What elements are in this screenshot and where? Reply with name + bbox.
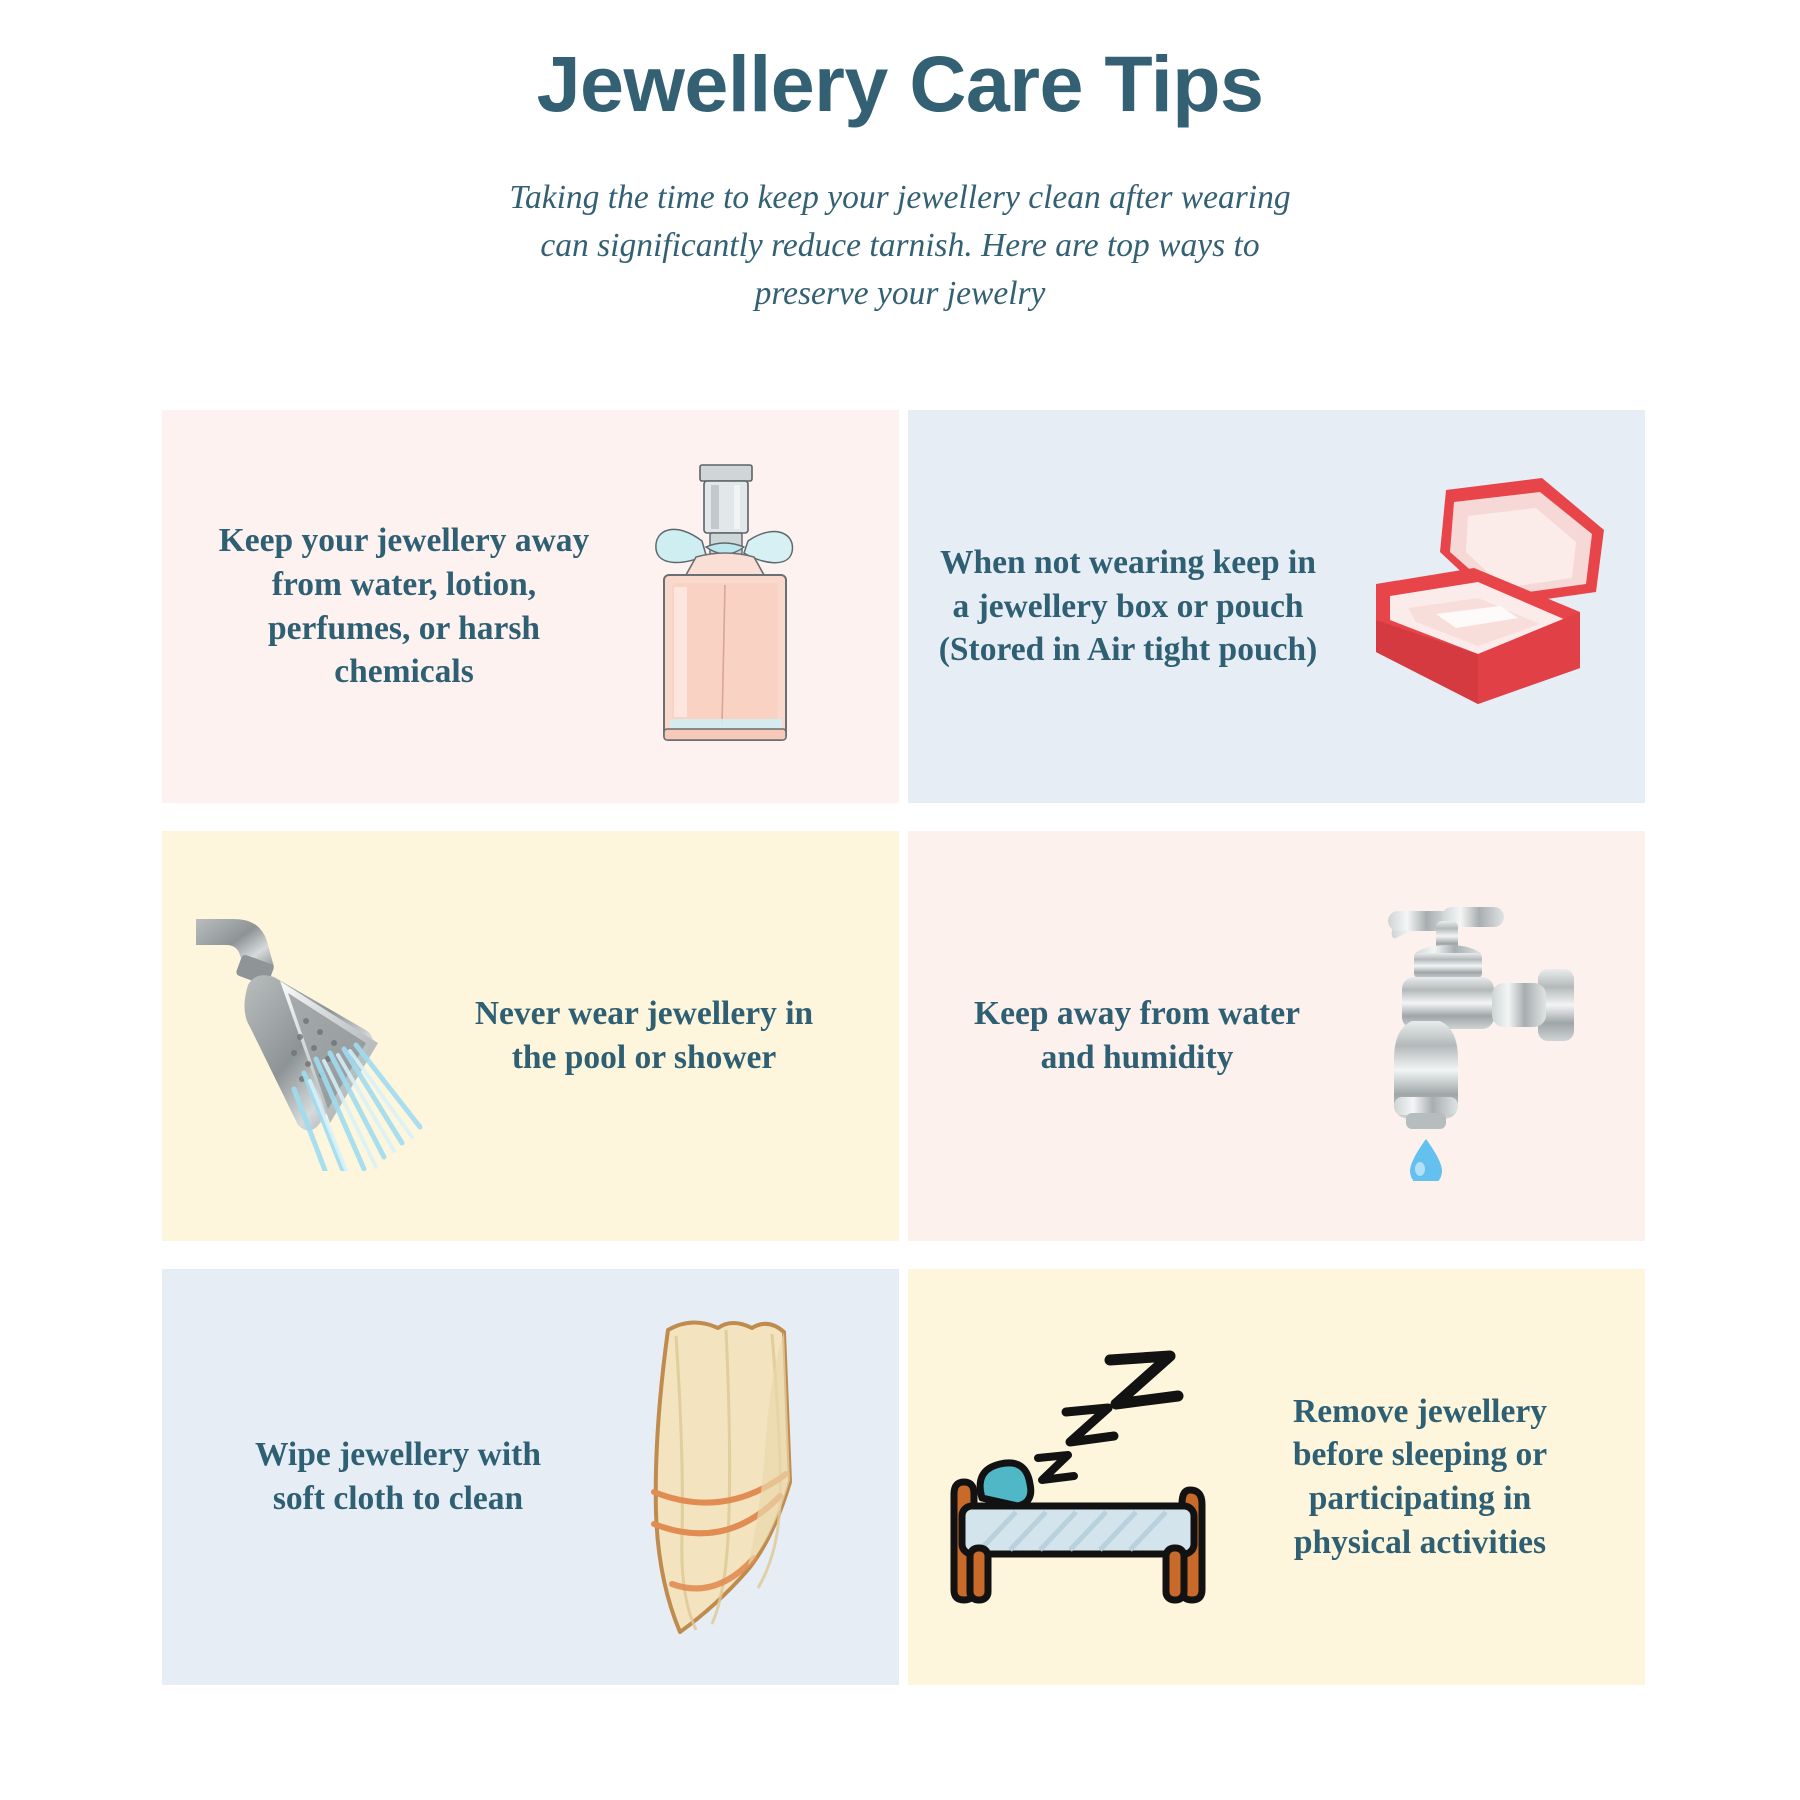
ring-box-icon <box>1328 472 1628 742</box>
shower-head-icon <box>188 901 438 1171</box>
tip-card-shower-label: Never wear jewellery in the pool or show… <box>474 992 814 1079</box>
cloth-icon <box>596 1312 846 1642</box>
infographic-page: Jewellery Care Tips Taking the time to k… <box>0 0 1800 1800</box>
tip-card-chemicals-label: Keep your jewellery away from water, lot… <box>204 519 604 693</box>
tip-card-wipe: Wipe jewellery with soft cloth to clean <box>162 1269 899 1685</box>
tip-card-sleep: Remove jewellery before sleeping or part… <box>908 1269 1645 1685</box>
tip-card-sleep-label: Remove jewellery before sleeping or part… <box>1260 1390 1580 1564</box>
faucet-icon <box>1342 891 1602 1181</box>
perfume-bottle-icon <box>610 457 840 757</box>
tip-card-wipe-label: Wipe jewellery with soft cloth to clean <box>228 1433 568 1520</box>
tip-card-humidity-label: Keep away from water and humidity <box>972 992 1302 1079</box>
header: Jewellery Care Tips Taking the time to k… <box>0 0 1800 317</box>
tip-card-humidity: Keep away from water and humidity <box>908 831 1645 1241</box>
tip-card-chemicals: Keep your jewellery away from water, lot… <box>162 410 899 803</box>
tips-grid: Keep your jewellery away from water, lot… <box>162 410 1639 1685</box>
page-title: Jewellery Care Tips <box>0 28 1800 128</box>
tip-card-shower: Never wear jewellery in the pool or show… <box>162 831 899 1241</box>
bed-sleeping-icon <box>934 1342 1234 1612</box>
tip-card-storage: When not wearing keep in a jewellery box… <box>908 410 1645 803</box>
page-subtitle: Taking the time to keep your jewellery c… <box>500 174 1300 317</box>
tip-card-storage-label: When not wearing keep in a jewellery box… <box>938 541 1318 672</box>
